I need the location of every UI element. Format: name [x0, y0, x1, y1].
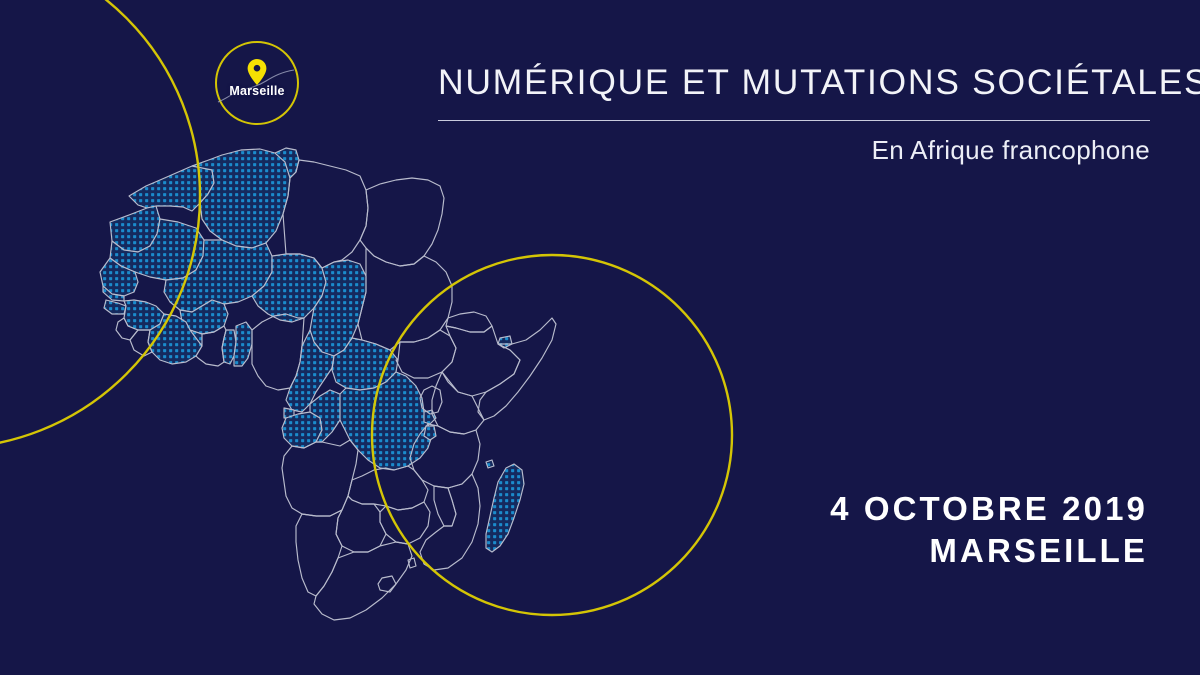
page-subtitle: En Afrique francophone — [438, 135, 1150, 166]
marseille-badge-label: Marseille — [214, 84, 300, 98]
map-pin-icon — [248, 59, 267, 85]
event-poster: Marseille NUMÉRIQUE ET MUTATIONS SOCIÉTA… — [0, 0, 1200, 675]
badge-graphic — [214, 40, 300, 126]
left-yellow-arc — [0, 0, 200, 448]
header-text-block: NUMÉRIQUE ET MUTATIONS SOCIÉTALES En Afr… — [438, 62, 1150, 166]
event-date: 4 OCTOBRE 2019 — [488, 488, 1148, 530]
marseille-badge: Marseille — [214, 40, 300, 126]
event-details-block: 4 OCTOBRE 2019 MARSEILLE — [488, 488, 1148, 571]
title-divider — [438, 120, 1150, 121]
event-city: MARSEILLE — [488, 530, 1148, 572]
page-title: NUMÉRIQUE ET MUTATIONS SOCIÉTALES — [438, 62, 1150, 103]
